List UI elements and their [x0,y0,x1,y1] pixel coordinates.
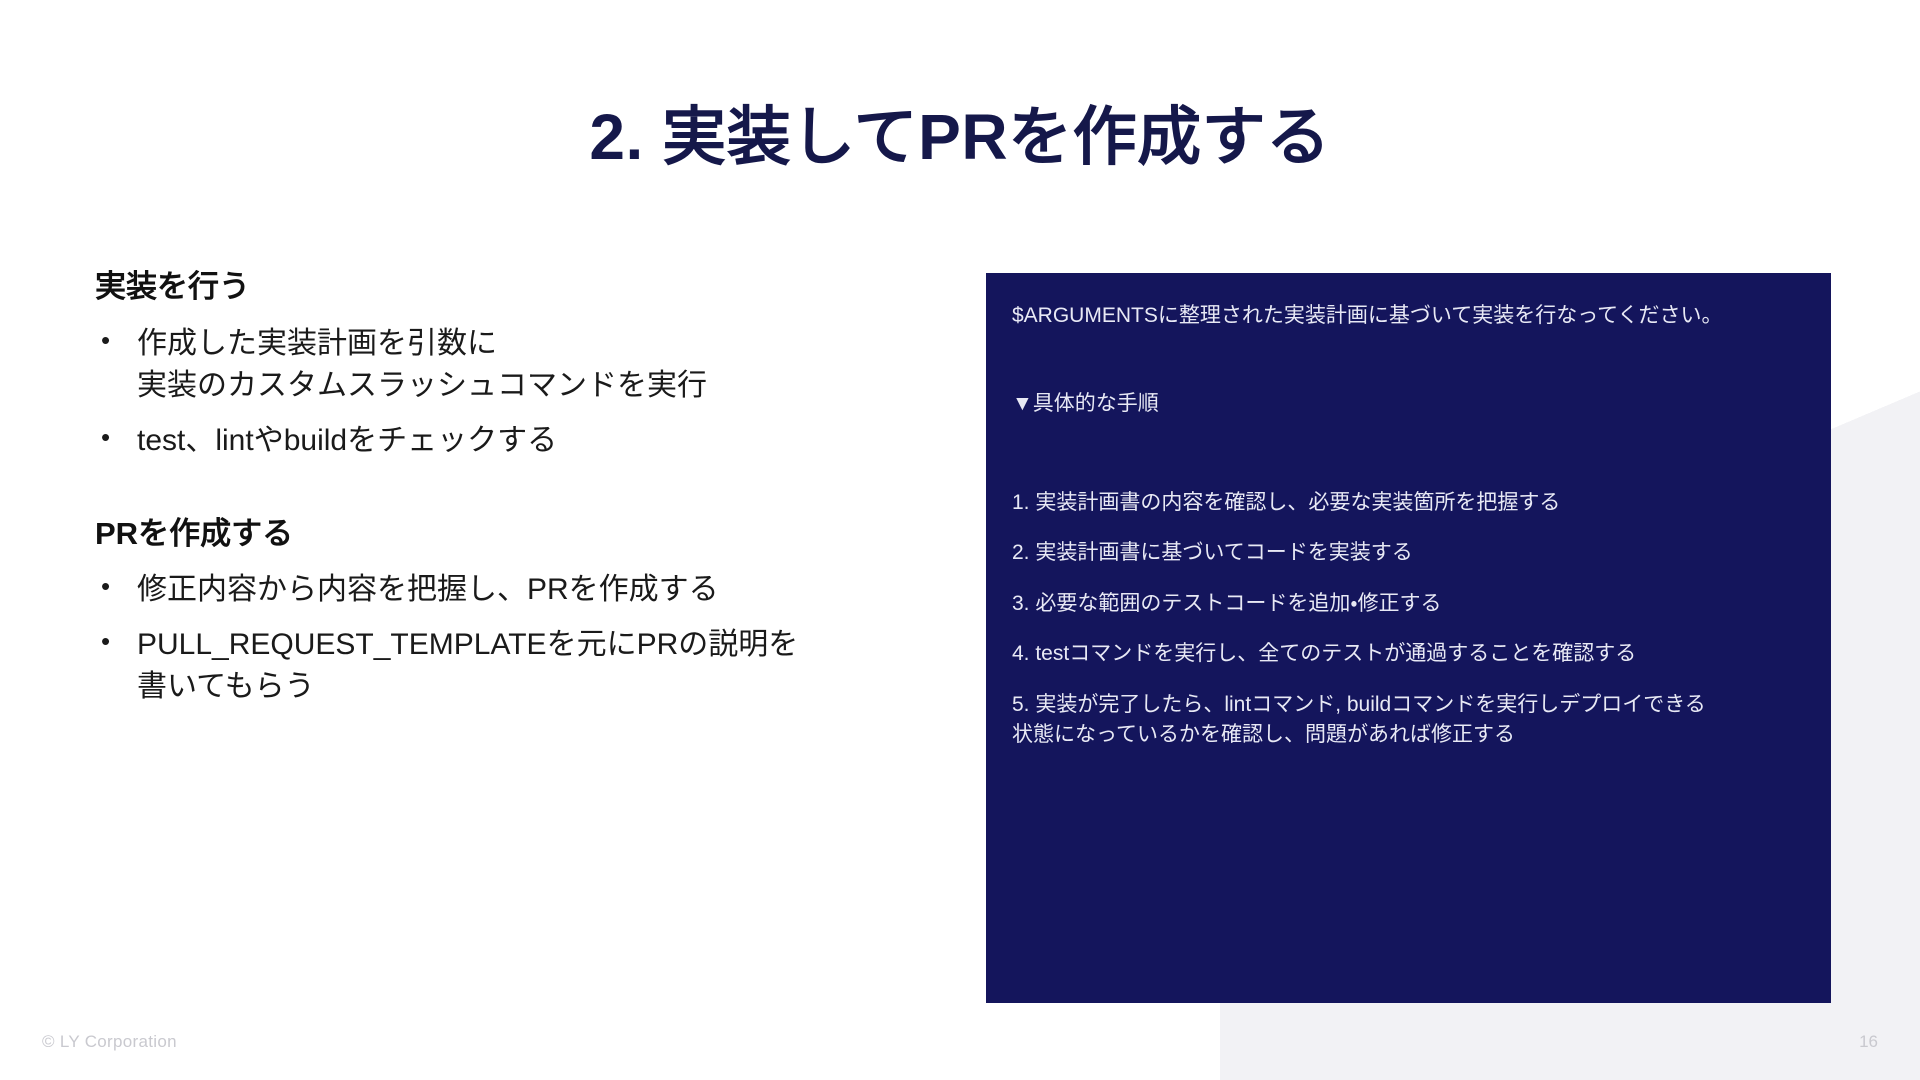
bullet-list-create-pr: 修正内容から内容を把握し、PRを作成する PULL_REQUEST_TEMPLA… [95,569,915,709]
list-item: 1. 実装計画書の内容を確認し、必要な実装箇所を把握する [1012,488,1805,518]
section-create-pr: PRを作成する 修正内容から内容を把握し、PRを作成する PULL_REQUES… [95,515,915,710]
section-heading-create-pr: PRを作成する [95,515,915,554]
slide-canvas: 2. 実装してPRを作成する 実装を行う 作成した実装計画を引数に 実装のカスタ… [0,0,1920,1080]
list-item: 2. 実装計画書に基づいてコードを実装する [1012,538,1805,568]
page-title: 2. 実装してPRを作成する [0,101,1920,175]
list-item: 3. 必要な範囲のテストコードを追加・修正する [1012,589,1805,619]
prompt-step-list: 1. 実装計画書の内容を確認し、必要な実装箇所を把握する 2. 実装計画書に基づ… [1012,488,1805,751]
footer-copyright: © LY Corporation [42,1032,177,1052]
list-item: 4. testコマンドを実行し、全てのテストが通過することを確認する [1012,639,1805,669]
bullet-list-implement: 作成した実装計画を引数に 実装のカスタムスラッシュコマンドを実行 test、li… [95,323,915,463]
prompt-spacer [1012,426,1805,488]
prompt-screenshot-panel: $ARGUMENTSに整理された実装計画に基づいて実装を行なってください。 ▼具… [986,273,1831,1003]
footer-page-number: 16 [1859,1032,1878,1052]
section-heading-implement: 実装を行う [95,268,915,307]
list-item: 作成した実装計画を引数に 実装のカスタムスラッシュコマンドを実行 [95,323,915,408]
left-content-column: 実装を行う 作成した実装計画を引数に 実装のカスタムスラッシュコマンドを実行 t… [95,268,915,721]
list-item: PULL_REQUEST_TEMPLATEを元にPRの説明を 書いてもらう [95,624,915,709]
prompt-intro-line: $ARGUMENTSに整理された実装計画に基づいて実装を行なってください。 [1012,301,1805,331]
section-implement: 実装を行う 作成した実装計画を引数に 実装のカスタムスラッシュコマンドを実行 t… [95,268,915,463]
list-item: 修正内容から内容を把握し、PRを作成する [95,569,915,612]
list-item: 5. 実装が完了したら、lintコマンド, buildコマンドを実行しデプロイで… [1012,690,1805,751]
list-item: test、lintやbuildをチェックする [95,420,915,463]
prompt-section-marker: ▼具体的な手順 [1012,389,1805,419]
prompt-spacer [1012,337,1805,389]
